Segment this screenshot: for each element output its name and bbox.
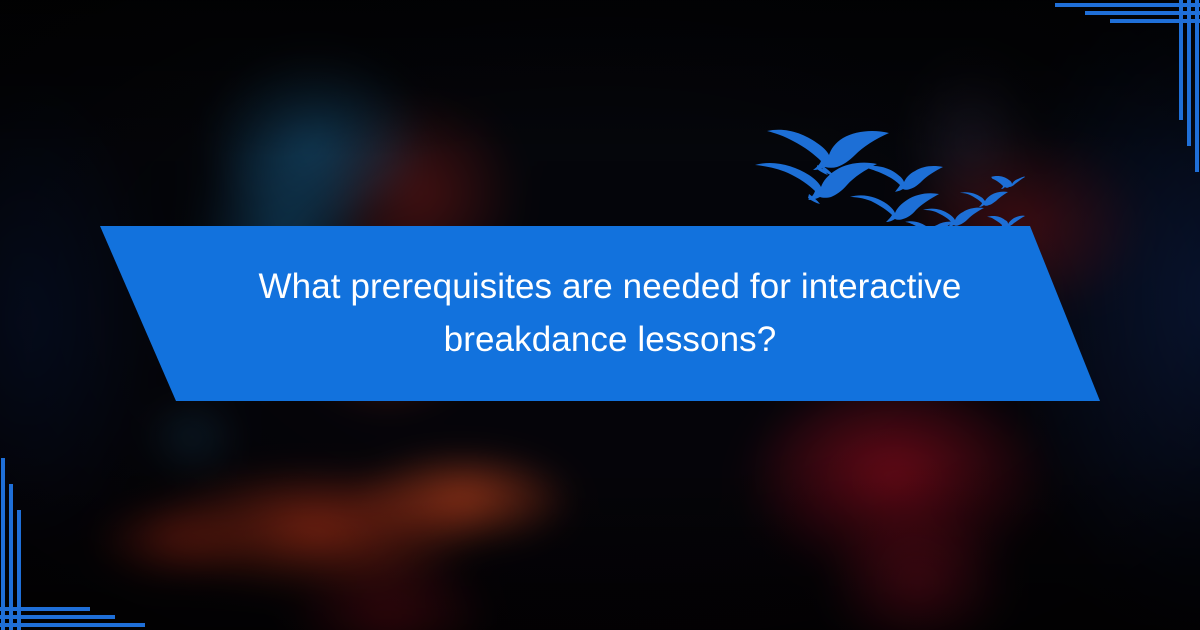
bird-icon <box>923 208 984 227</box>
page-title: What prerequisites are needed for intera… <box>246 261 974 366</box>
bird-icon <box>850 193 939 222</box>
bird-icon <box>960 192 1008 207</box>
bird-icon <box>863 166 943 192</box>
headline-banner: What prerequisites are needed for intera… <box>96 226 1104 401</box>
screenshot-canvas: What prerequisites are needed for intera… <box>0 0 1200 630</box>
bird-icon-group <box>755 130 1025 237</box>
bird-icon <box>991 176 1025 189</box>
birds-flock <box>755 105 1025 240</box>
